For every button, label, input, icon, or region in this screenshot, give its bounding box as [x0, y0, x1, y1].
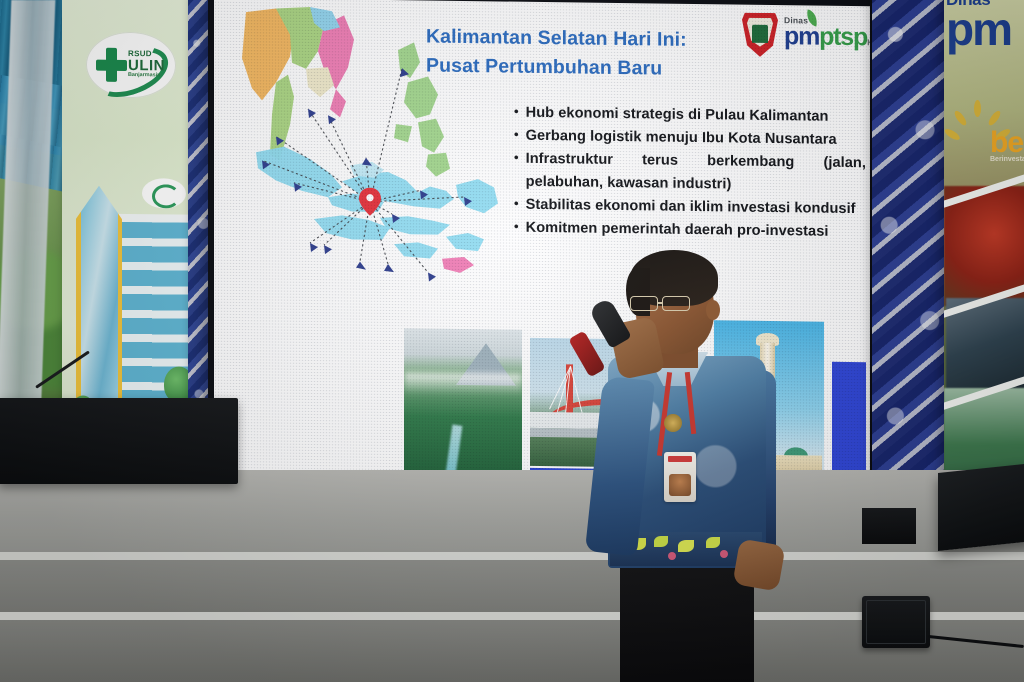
- pmptsp-kalsel-logo: Dinas pmptspKalsel: [742, 11, 870, 61]
- be-sub-label: Berinvestasi: [990, 156, 1024, 163]
- bullet-marker-icon: •: [514, 125, 519, 147]
- bullet-text: Hub ekonomi strategis di Pulau Kalimanta…: [526, 102, 866, 129]
- presenter-hand-right: [732, 538, 785, 591]
- pmptsp-wordmark: Dinas pmptspKalsel: [784, 15, 870, 48]
- forest-mountain-photo: [404, 328, 522, 490]
- floor-light: [862, 596, 930, 648]
- presentation-scene: RSUD ULIN Banjarmasin KALIM: [0, 0, 1024, 682]
- list-item: • Stabilitas ekonomi dan iklim investasi…: [514, 193, 866, 220]
- bullet-text: Gerbang logistik menuju Ibu Kota Nusanta…: [526, 125, 866, 152]
- ptsp-label: ptsp: [819, 23, 867, 52]
- rsud-ulin-banner: RSUD ULIN Banjarmasin: [62, 0, 194, 467]
- list-item: • Hub ekonomi strategis di Pulau Kaliman…: [514, 102, 866, 129]
- stage-monitor-speaker-left: [0, 398, 238, 484]
- banjarmasin-label: Banjarmasin: [128, 73, 165, 79]
- dinas-pm-wordmark: Dinas pm: [946, 0, 1024, 50]
- batik-flower: [706, 537, 720, 548]
- medical-cross-icon: [96, 48, 126, 82]
- bullet-marker-icon: •: [514, 193, 519, 215]
- bullet-marker-icon: •: [514, 102, 519, 124]
- building-tower: [76, 185, 122, 423]
- eyeglasses-icon: [630, 296, 706, 312]
- bullet-marker-icon: •: [514, 148, 519, 192]
- slide-title-line2: Pusat Pertumbuhan Baru: [426, 52, 687, 85]
- shirt-emblem-icon: [664, 414, 682, 432]
- slide-bullet-list: • Hub ekonomi strategis di Pulau Kaliman…: [514, 102, 866, 245]
- bullet-marker-icon: •: [514, 216, 519, 238]
- batik-flower: [720, 550, 728, 558]
- batik-column-right: [872, 0, 950, 522]
- list-item: • Infrastruktur terus berkembang (jalan,…: [514, 148, 866, 197]
- pm-label: pm: [784, 22, 819, 50]
- dinas-pm-banner: Dinas pm be Berinvestasi: [944, 0, 1024, 530]
- slide-title-line1: Kalimantan Selatan Hari Ini:: [426, 22, 687, 55]
- mist-layer: [404, 372, 522, 396]
- pmptsp-label: pmptspKalsel: [784, 25, 870, 48]
- be-label: be: [990, 126, 1023, 160]
- stage-monitor-speaker-right-2: [862, 508, 916, 544]
- list-item: • Komitmen pemerintah daerah pro-investa…: [514, 216, 866, 243]
- presenter-ear: [706, 300, 720, 320]
- rsud-ulin-text: RSUD ULIN Banjarmasin: [128, 50, 165, 79]
- ulin-label: ULIN: [128, 58, 165, 74]
- pm-label-right: pm: [946, 8, 1024, 50]
- kalsel-shield-icon: [742, 13, 778, 57]
- bullet-text: Stabilitas ekonomi dan iklim investasi k…: [526, 193, 866, 220]
- batik-flower: [654, 536, 668, 547]
- bullet-text: Infrastruktur terus berkembang (jalan, p…: [526, 148, 866, 197]
- id-badge: [664, 452, 696, 502]
- bullet-text: Komitmen pemerintah daerah pro-investasi: [526, 217, 866, 244]
- list-item: • Gerbang logistik menuju Ibu Kota Nusan…: [514, 125, 866, 152]
- presenter: [596, 246, 786, 682]
- slide-title: Kalimantan Selatan Hari Ini: Pusat Pertu…: [426, 22, 687, 84]
- hospital-building-illustration: [68, 169, 194, 432]
- batik-flower: [678, 540, 694, 552]
- kalsel-label: Kalsel: [867, 37, 870, 47]
- stage-monitor-speaker-right: [938, 463, 1024, 551]
- batik-flower: [668, 552, 676, 560]
- building-logo-icon: [142, 178, 186, 208]
